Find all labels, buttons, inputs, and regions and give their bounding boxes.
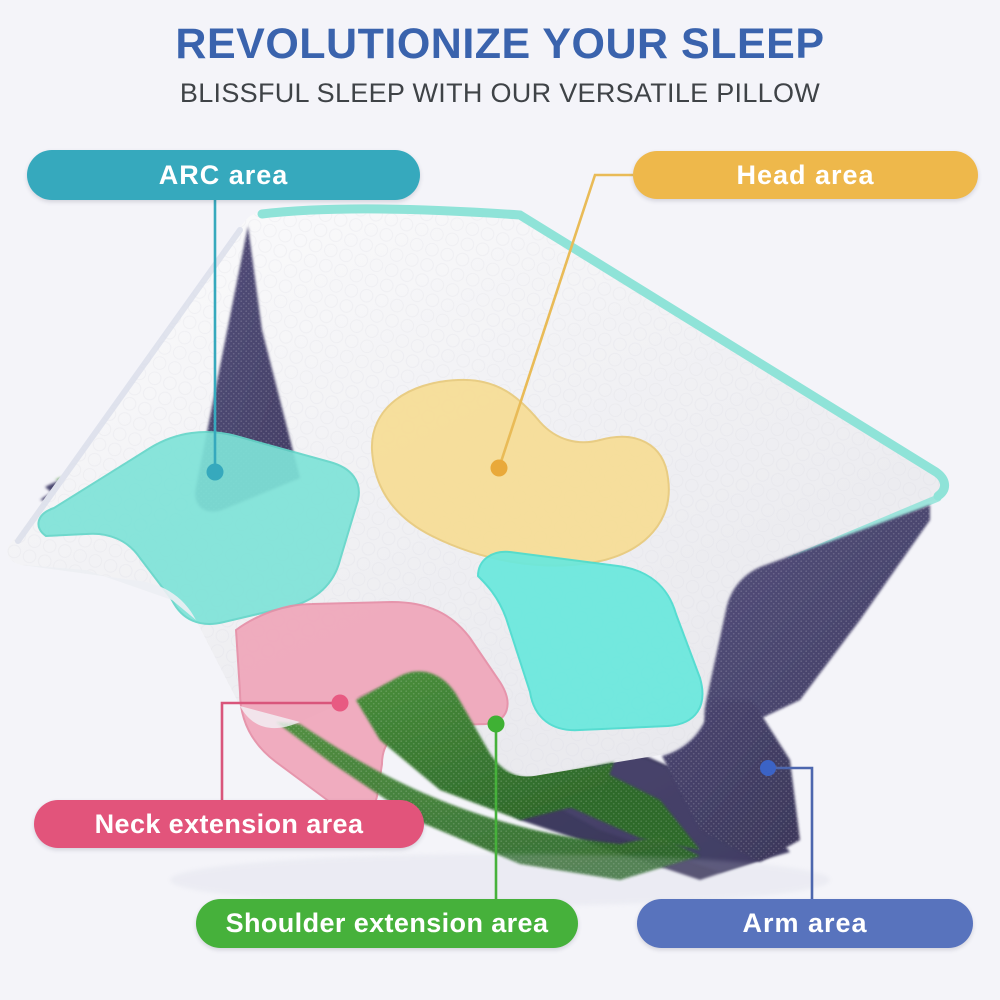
callout-label-neck[interactable]: Neck extension area bbox=[34, 800, 424, 848]
callout-label-arm[interactable]: Arm area bbox=[637, 899, 973, 948]
callout-label-shoulder[interactable]: Shoulder extension area bbox=[196, 899, 578, 948]
callout-label-arc[interactable]: ARC area bbox=[27, 150, 420, 200]
callout-label-head-text: Head area bbox=[736, 160, 874, 191]
infographic-canvas: REVOLUTIONIZE YOUR SLEEP BLISSFUL SLEEP … bbox=[0, 0, 1000, 1000]
callout-label-shoulder-text: Shoulder extension area bbox=[226, 908, 549, 939]
callout-label-arm-text: Arm area bbox=[742, 908, 867, 939]
callout-label-arc-text: ARC area bbox=[159, 160, 289, 191]
callout-label-head[interactable]: Head area bbox=[633, 151, 978, 199]
callout-label-neck-text: Neck extension area bbox=[95, 809, 364, 840]
